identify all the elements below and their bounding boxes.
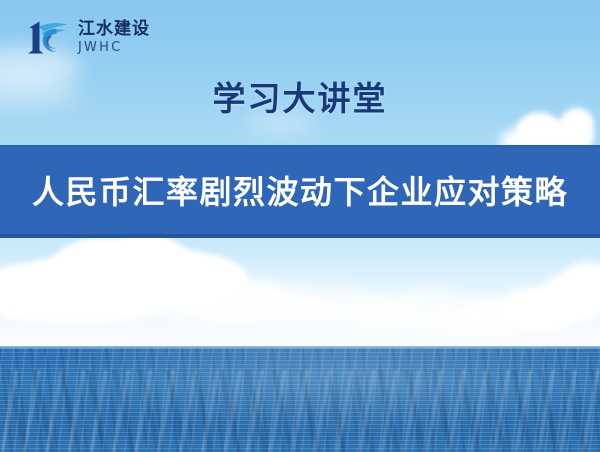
lecture-title: 人民币汇率剧烈波动下企业应对策略 xyxy=(32,176,568,208)
logo-wordmark: 江水建设 JWHC xyxy=(78,19,150,54)
cloud-streak xyxy=(120,330,440,334)
jwhc-wave-logo-icon xyxy=(26,14,72,58)
cloud-streak xyxy=(420,300,590,302)
cloud-streak xyxy=(330,294,580,297)
company-logo: 江水建设 JWHC xyxy=(26,12,176,60)
sea-background xyxy=(0,346,600,452)
cloud-streak xyxy=(230,316,440,319)
poster-canvas: 江水建设 JWHC 学习大讲堂 人民币汇率剧烈波动下企业应对策略 xyxy=(0,0,600,452)
page-heading: 学习大讲堂 xyxy=(0,78,600,119)
sea-sheen xyxy=(0,346,600,452)
logo-company-name-en: JWHC xyxy=(78,41,150,54)
band-top-edge xyxy=(0,145,600,147)
band-bottom-edge xyxy=(0,234,600,238)
cloud-shape xyxy=(108,232,178,272)
title-band: 人民币汇率剧烈波动下企业应对策略 xyxy=(0,145,600,238)
logo-company-name-cn: 江水建设 xyxy=(78,21,150,38)
